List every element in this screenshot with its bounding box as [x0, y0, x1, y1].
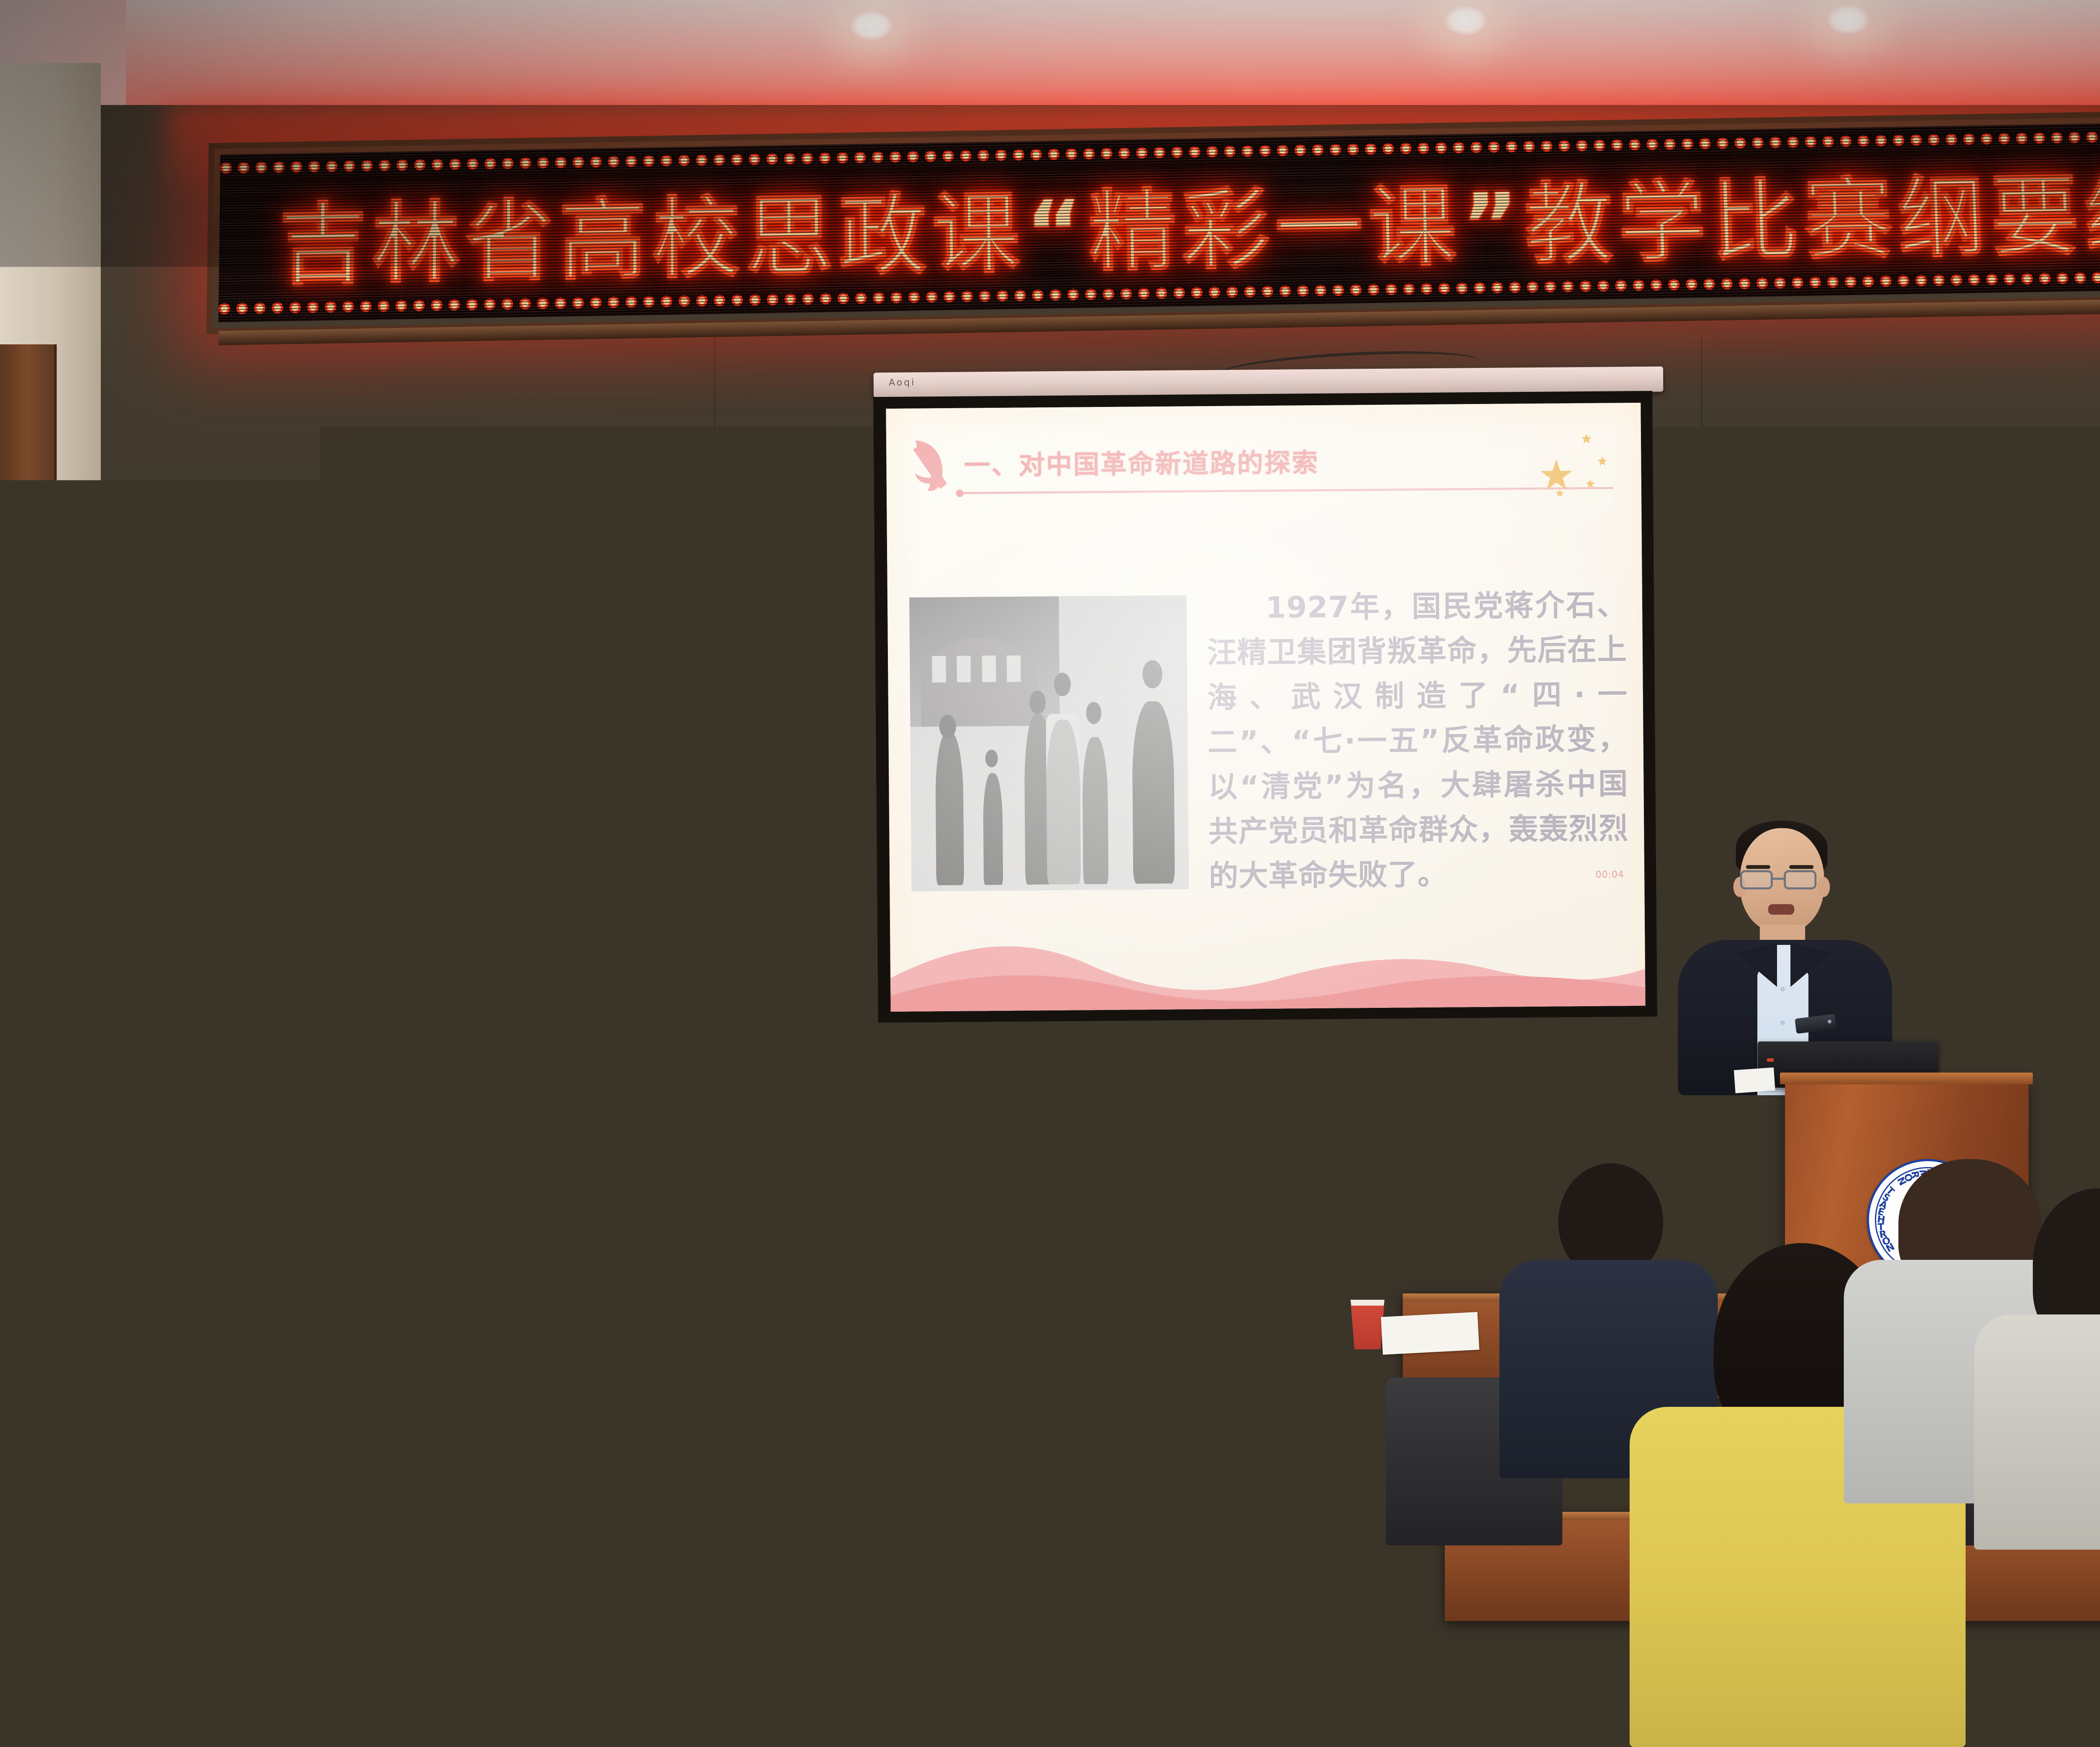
status-led-blue-icon: [549, 934, 554, 939]
slide-wave-decoration: [890, 897, 1646, 1012]
slide-body-text: 1927年，国民党蒋介石、汪精卫集团背叛革命，先后在上海、武汉制造了“四·一二”…: [1207, 582, 1629, 899]
presentation-slide: 一、对中国革命新道路的探索 ★ ★ ★ ★ ★: [886, 403, 1645, 1012]
presenter-brow: [1746, 865, 1770, 869]
slide-historical-photo: [909, 595, 1189, 891]
led-banner: 吉林省高校思政课“精彩一课”教学比赛纲要组: [207, 110, 2100, 334]
podium-paper: [1734, 1068, 1775, 1093]
led-banner-screen: 吉林省高校思政课“精彩一课”教学比赛纲要组: [218, 121, 2100, 322]
shirt-button: [1780, 987, 1785, 992]
audience-member-1: [17, 1125, 277, 1503]
monitor-power-led-icon: [1767, 1058, 1774, 1062]
slide-title-rule: [960, 487, 1613, 494]
presenter-mouth: [1768, 904, 1794, 915]
shirt-button: [1780, 1020, 1785, 1025]
downlight: [1825, 3, 1871, 36]
person-torso: [819, 1453, 1138, 1747]
control-panel-lcd: [549, 910, 573, 922]
audience-member-6: [1071, 1117, 1306, 1428]
slide-timer: 00:04: [1596, 869, 1625, 880]
lecture-hall-scene: 吉林省高校思政课“精彩一课”教学比赛纲要组 Aoqi 一、对中国革命新道路的探索…: [0, 0, 2100, 1747]
nameplate-judge-left: 专家评委: [328, 1272, 449, 1325]
audience-member-10: [1974, 1188, 2100, 1533]
presenter-ear: [1817, 877, 1830, 897]
person-torso: [17, 1247, 286, 1516]
projection-screen-brand: Aoqi: [889, 378, 916, 388]
glasses-bridge-icon: [1771, 878, 1784, 880]
document-paper[interactable]: [1381, 1312, 1479, 1355]
glasses-icon: [1784, 870, 1816, 889]
slide-title: 一、对中国革命新道路的探索: [964, 441, 1319, 482]
presenter-brow: [1789, 865, 1814, 869]
gold-stars-icon: ★ ★ ★ ★ ★: [1530, 428, 1618, 509]
tablet-device[interactable]: [286, 1365, 391, 1405]
wall-control-panel[interactable]: · · · ·: [543, 902, 585, 954]
downlight: [1443, 4, 1489, 37]
downlight: [848, 9, 895, 42]
person-torso: [1075, 1222, 1310, 1457]
control-panel-label: · · · ·: [549, 904, 556, 908]
person-torso: [1974, 1314, 2100, 1550]
nameplate-text: 专家评委: [344, 1285, 433, 1313]
status-led-red-icon: [549, 926, 554, 931]
glasses-icon: [1740, 870, 1773, 889]
wall-hook-icon: [556, 954, 568, 968]
projection-screen: 一、对中国革命新道路的探索 ★ ★ ★ ★ ★: [873, 391, 1657, 1023]
hammer-and-sickle-icon: [906, 433, 957, 496]
water-bottle: [1315, 1235, 1339, 1325]
